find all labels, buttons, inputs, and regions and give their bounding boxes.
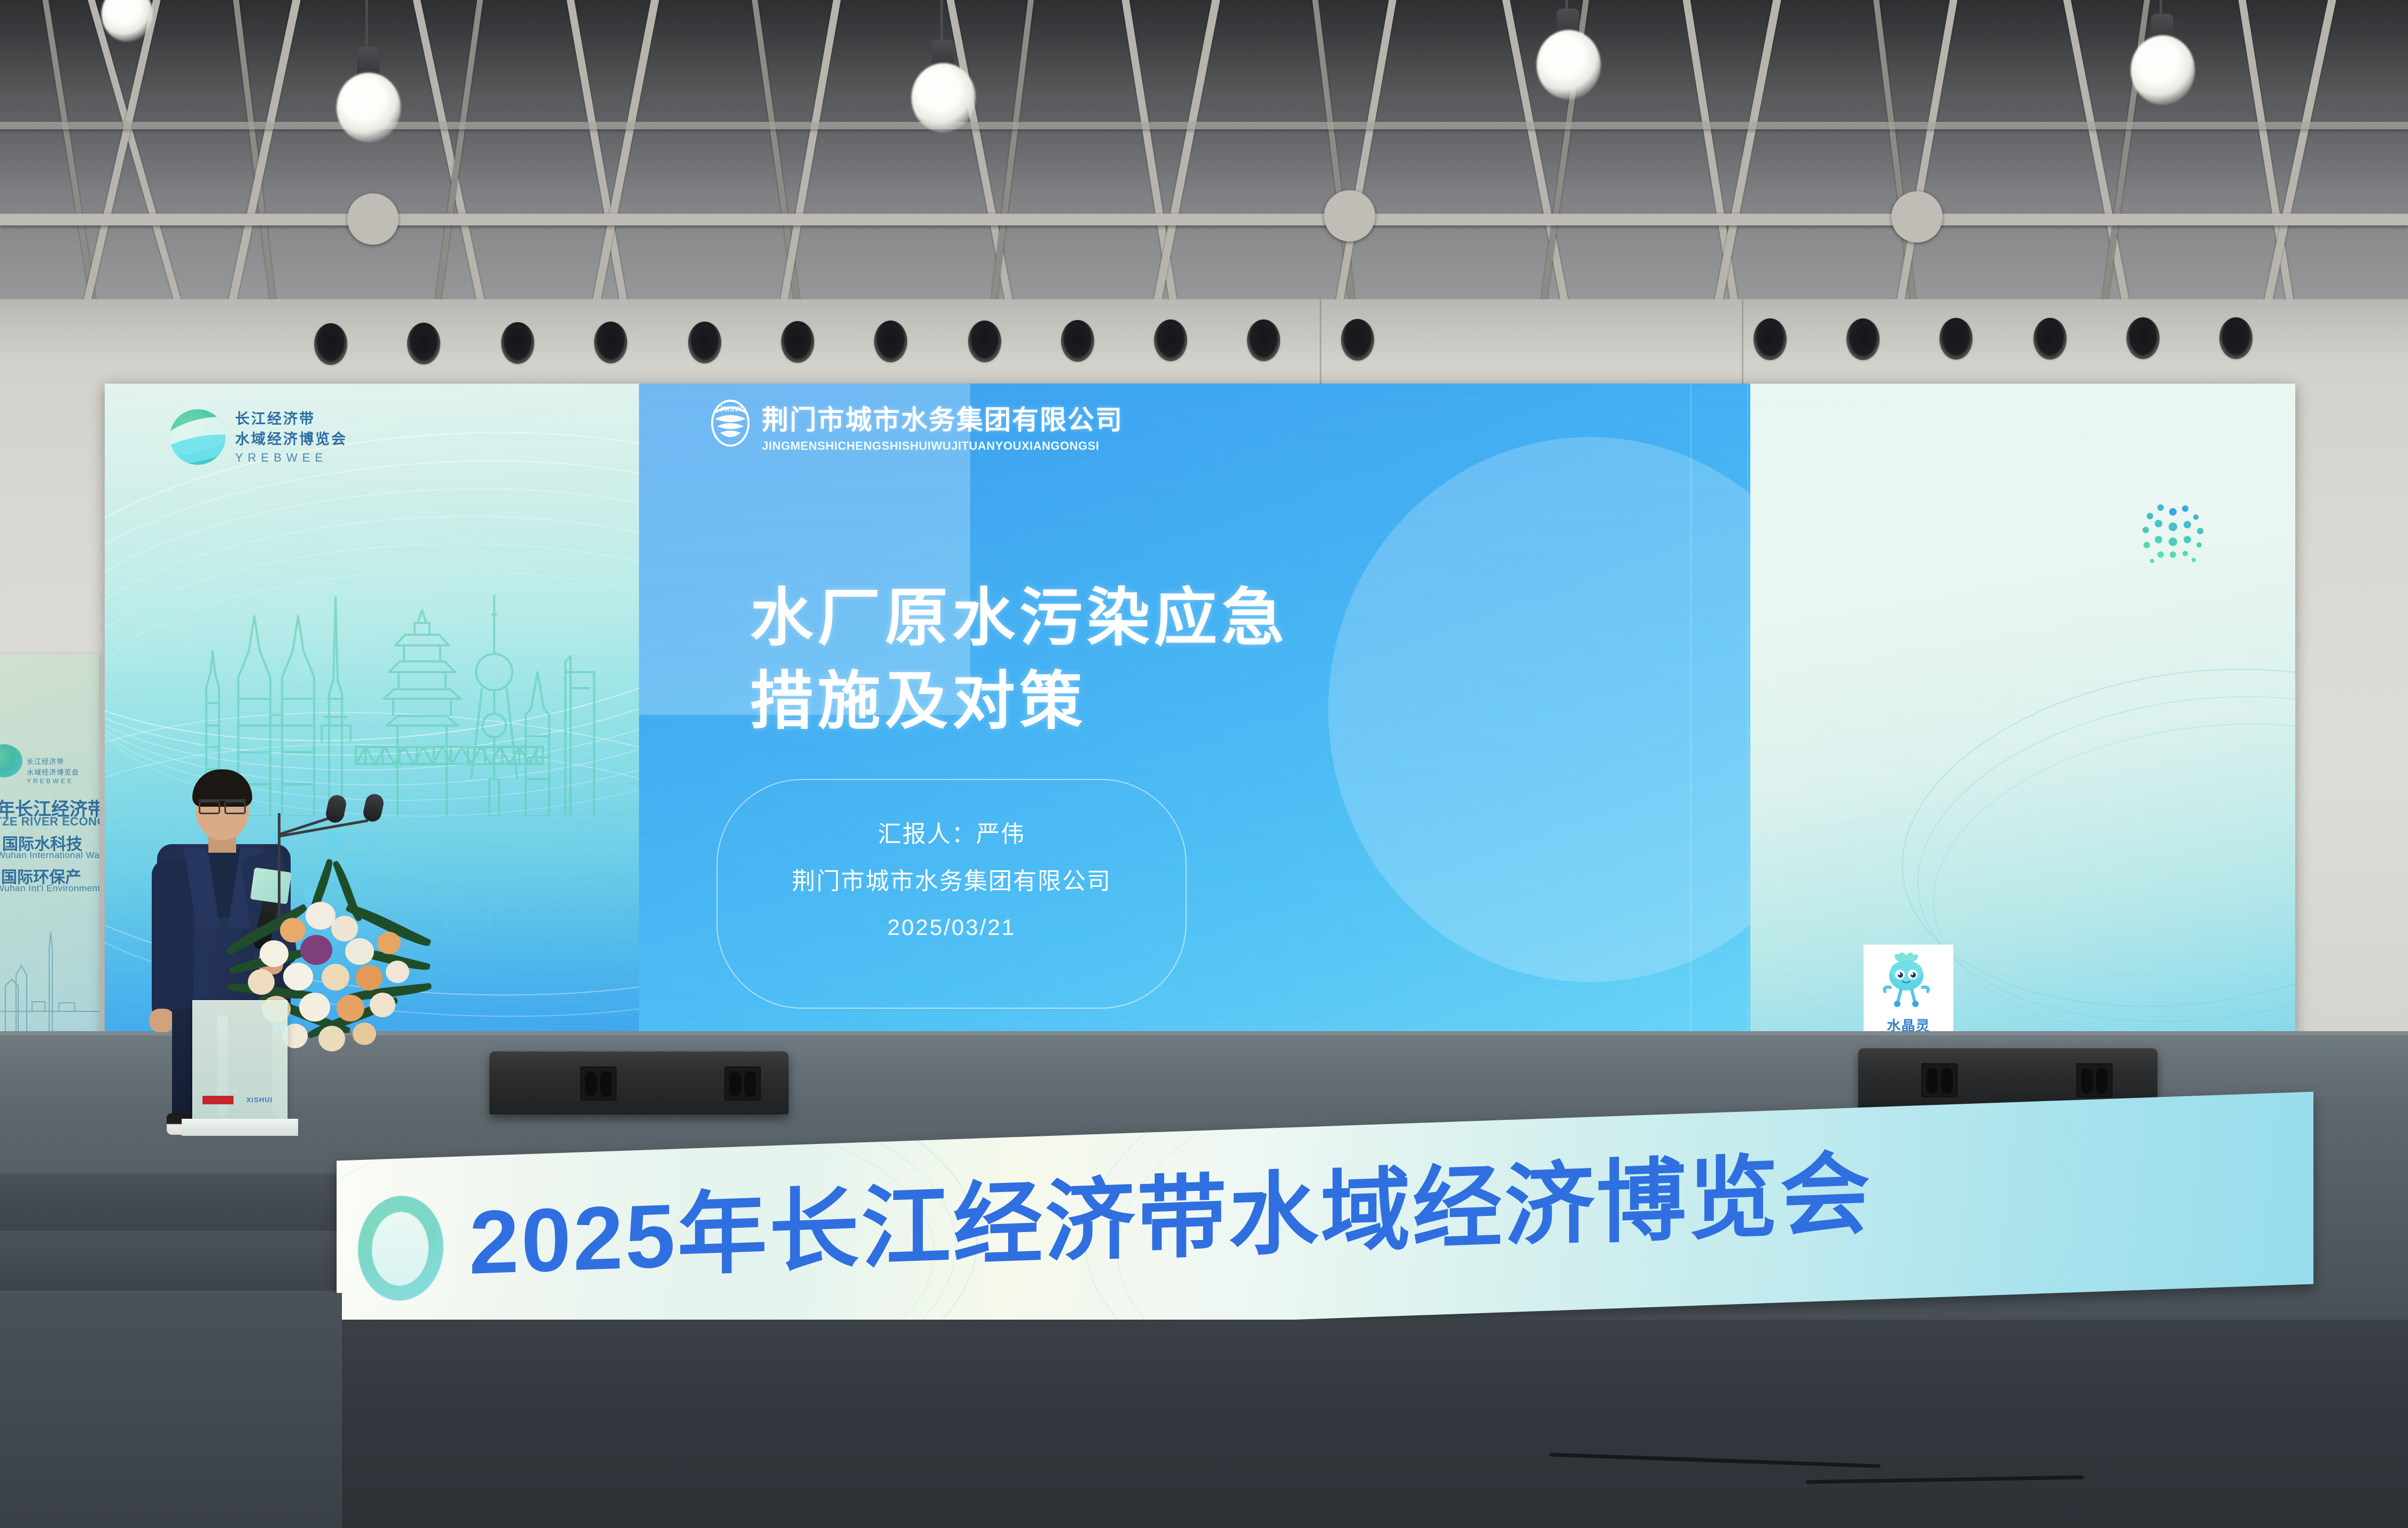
podium-sponsor-logo: [202, 1096, 233, 1104]
side-banner-logo-cn1: 长江经济带: [27, 756, 64, 766]
pendant-lamp-glow: [1537, 30, 1601, 99]
circular-wall-vent: [968, 321, 1001, 362]
main-led-screen: 长江经济带 水域经济博览会 YREBWEE: [105, 384, 2295, 1037]
ceiling-structure: [0, 0, 2408, 321]
circular-wall-vent: [407, 323, 440, 364]
circular-wall-vent: [874, 321, 907, 362]
side-banner-logo-icon: [0, 744, 22, 777]
yrebwee-globe-wave-logo-icon: [170, 409, 225, 465]
stage-step: [0, 1173, 374, 1231]
presenter-organization: 荆门市城市水务集团有限公司: [716, 858, 1187, 905]
side-banner-logo-en: YREBWEE: [27, 777, 74, 785]
truss-node: [347, 193, 399, 245]
company-header: JMSW 荆门市城市水务集团有限公司 JINGMENSHICHENGSHISHU…: [707, 399, 1123, 453]
circular-wall-vent: [1154, 319, 1187, 361]
side-banner-logo-cn2: 水域经济博览会: [27, 767, 79, 777]
circular-wall-vent: [2126, 317, 2160, 359]
jmsw-company-logo-icon: JMSW: [707, 399, 753, 448]
pendant-lamp-glow: [911, 63, 976, 132]
pendant-lamp-cord: [940, 0, 943, 42]
company-name-pinyin: JINGMENSHICHENGSHISHUIWUJITUANYOUXIANGON…: [762, 439, 1123, 453]
slide-title-line2: 措施及对策: [750, 660, 1289, 744]
presenter-info: 汇报人：严伟 荆门市城市水务集团有限公司 2025/03/21: [716, 811, 1187, 950]
truss-node: [1891, 191, 1943, 243]
circular-wall-vent: [1247, 319, 1280, 361]
side-banner-line-en3: Wuhan Int'l Environmental: [0, 883, 99, 894]
acrylic-podium: XISHUI: [192, 1000, 287, 1123]
circular-wall-vent: [1754, 318, 1787, 360]
dotted-sphere-graphic: [2131, 490, 2215, 575]
side-exhibition-banner: 长江经济带 水域经济博览会 YREBWEE 年长江经济带 TZE RIVER E…: [0, 654, 99, 1061]
venue-floor-left: [0, 1293, 342, 1528]
presenter-name: 汇报人：严伟: [716, 811, 1187, 858]
slide-title: 水厂原水污染应急 措施及对策: [750, 577, 1289, 744]
circular-wall-vent: [1341, 319, 1374, 361]
side-banner-line-en1: TZE RIVER ECONOMIC: [0, 815, 99, 829]
company-name-cn: 荆门市城市水务集团有限公司: [762, 399, 1123, 437]
side-banner-skyline-graphic: [0, 916, 99, 1039]
water-droplet-mascot-icon: [1879, 950, 1938, 1014]
pendant-lamp-glow: [337, 73, 401, 142]
circular-wall-vent: [1846, 318, 1880, 360]
circular-wall-vent: [314, 323, 347, 365]
circular-wall-vent: [781, 321, 814, 363]
led-right-panel: [1750, 384, 2295, 1037]
expo-logo-acronym: YREBWEE: [235, 451, 347, 465]
eyeglasses: [199, 799, 246, 810]
svg-text:JMSW: JMSW: [719, 404, 742, 413]
expo-logo-line1: 长江经济带: [235, 409, 347, 429]
slide-title-line1: 水厂原水污染应急: [750, 577, 1289, 660]
circular-wall-vent: [594, 322, 627, 363]
pendant-lamp-glow: [2131, 35, 2195, 105]
pendant-lamp-cord: [365, 0, 368, 49]
circular-wall-vent: [1939, 318, 1973, 360]
truss-node: [1324, 190, 1375, 241]
circular-wall-vent: [2033, 318, 2067, 360]
circular-wall-vent: [1061, 320, 1094, 362]
circular-wall-vent: [2219, 317, 2253, 359]
side-banner-line-en2: Wuhan International Wa: [0, 850, 99, 861]
stage-monitor-speaker-left: [489, 1051, 789, 1114]
presentation-date: 2025/03/21: [716, 905, 1187, 950]
venue-floor: [0, 1320, 2408, 1528]
expo-logo: 长江经济带 水域经济博览会 YREBWEE: [170, 409, 347, 465]
conference-stage-scene: 长江经济带 水域经济博览会 YREBWEE 年长江经济带 TZE RIVER E…: [0, 0, 2408, 1528]
expo-logo-line2: 水域经济博览会: [235, 430, 347, 449]
circular-wall-vent: [688, 322, 721, 363]
podium-base: [182, 1119, 298, 1136]
podium-sponsor-mark: XISHUI: [246, 1096, 276, 1104]
mascot-badge: 水晶灵: [1864, 945, 1953, 1037]
circular-wall-vent: [501, 322, 534, 364]
